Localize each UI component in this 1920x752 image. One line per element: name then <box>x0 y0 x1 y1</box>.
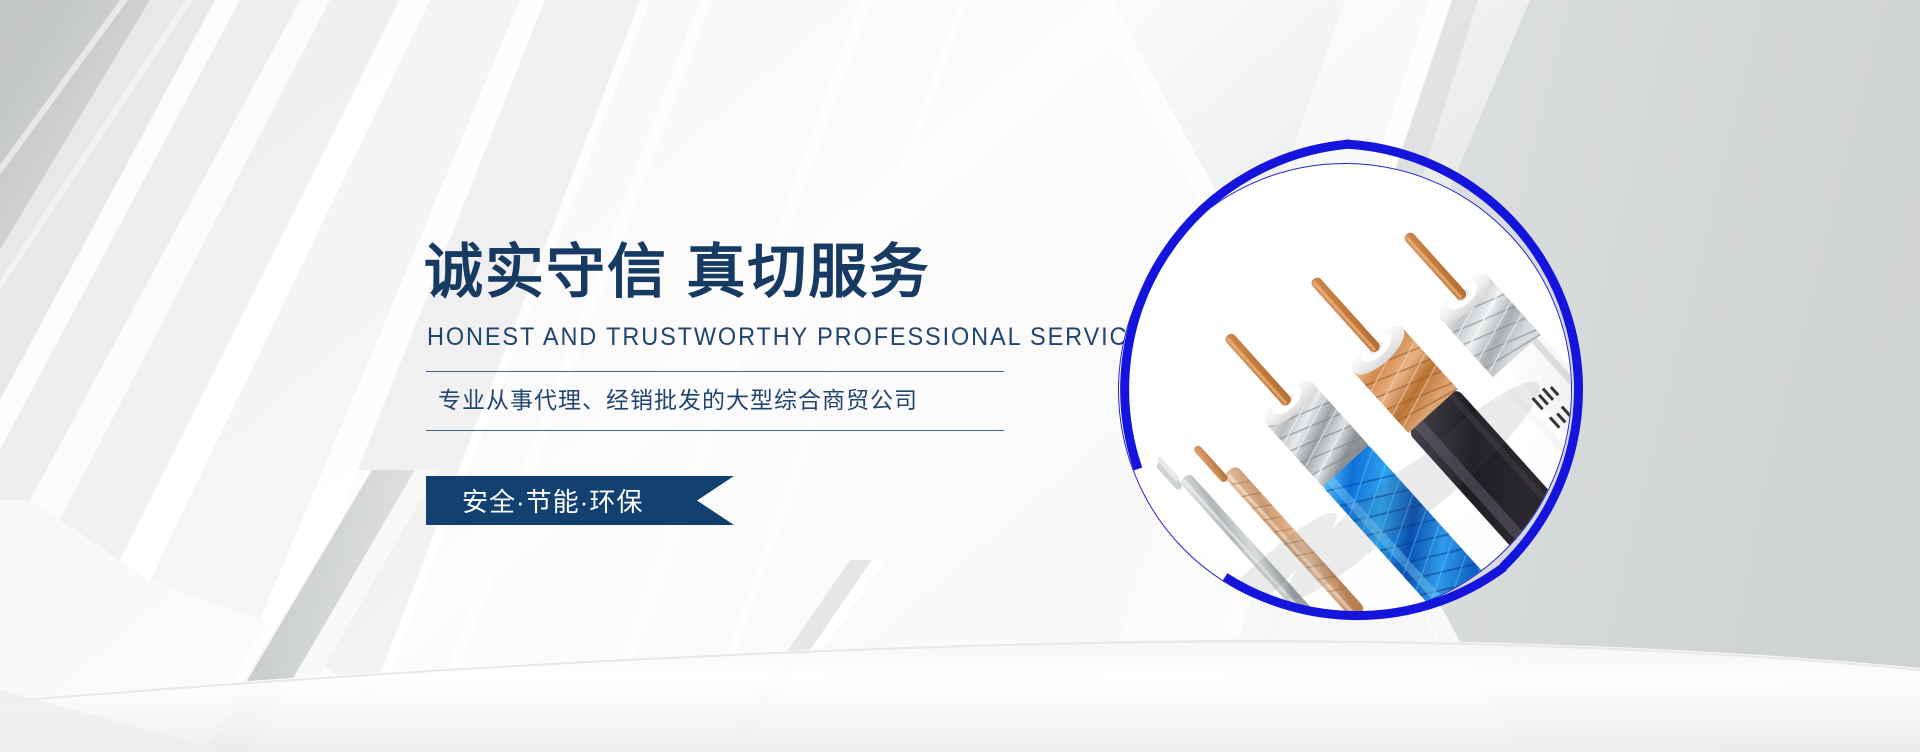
promo-banner: 诚实守信 真切服务 HONEST AND TRUSTWORTHY PROFESS… <box>0 0 1920 752</box>
product-photo <box>1118 163 1572 617</box>
decorative-ring <box>1092 137 1598 643</box>
description-text: 专业从事代理、经销批发的大型综合商贸公司 <box>426 372 1004 430</box>
page-subtitle: HONEST AND TRUSTWORTHY PROFESSIONAL SERV… <box>427 325 1164 350</box>
divider-bottom <box>426 430 1004 431</box>
banner-content: 诚实守信 真切服务 HONEST AND TRUSTWORTHY PROFESS… <box>424 0 1044 752</box>
description-block: 专业从事代理、经销批发的大型综合商贸公司 <box>426 371 1004 431</box>
page-title: 诚实守信 真切服务 <box>424 243 930 302</box>
feature-badge-label: 安全·节能·环保 <box>426 476 734 525</box>
